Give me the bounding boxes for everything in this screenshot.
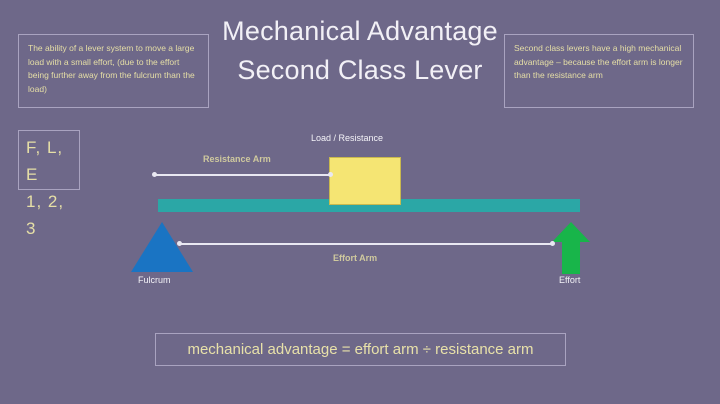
lever-order-key-box: F, L, E 1, 2, 3 [18,130,80,190]
definition-note-left: The ability of a lever system to move a … [18,34,209,108]
resistance-arm-cap-left [152,172,157,177]
effort-up-arrow-icon [552,222,590,274]
effort-arm-cap-left [177,241,182,246]
lever-order-letters: F, L, E [26,134,79,188]
load-block [329,157,401,205]
resistance-arm-label: Resistance Arm [203,154,271,164]
fulcrum-label: Fulcrum [138,275,171,285]
effort-arm-cap-right [550,241,555,246]
title-line-1: Mechanical Advantage [180,12,540,51]
resistance-arm-line [155,174,331,176]
lever-order-numbers: 1, 2, 3 [26,188,79,242]
effort-arm-label: Effort Arm [333,253,377,263]
title-line-2: Second Class Lever [180,51,540,90]
fulcrum-triangle-icon [131,222,193,272]
load-label: Load / Resistance [311,133,383,143]
resistance-arm-cap-right [328,172,333,177]
explanation-note-right: Second class levers have a high mechanic… [504,34,694,108]
effort-label: Effort [559,275,580,285]
lever-diagram-slide: Mechanical Advantage Second Class Lever … [0,0,720,404]
formula-box: mechanical advantage = effort arm ÷ resi… [155,333,566,366]
effort-arm-line [180,243,552,245]
page-title: Mechanical Advantage Second Class Lever [180,12,540,90]
